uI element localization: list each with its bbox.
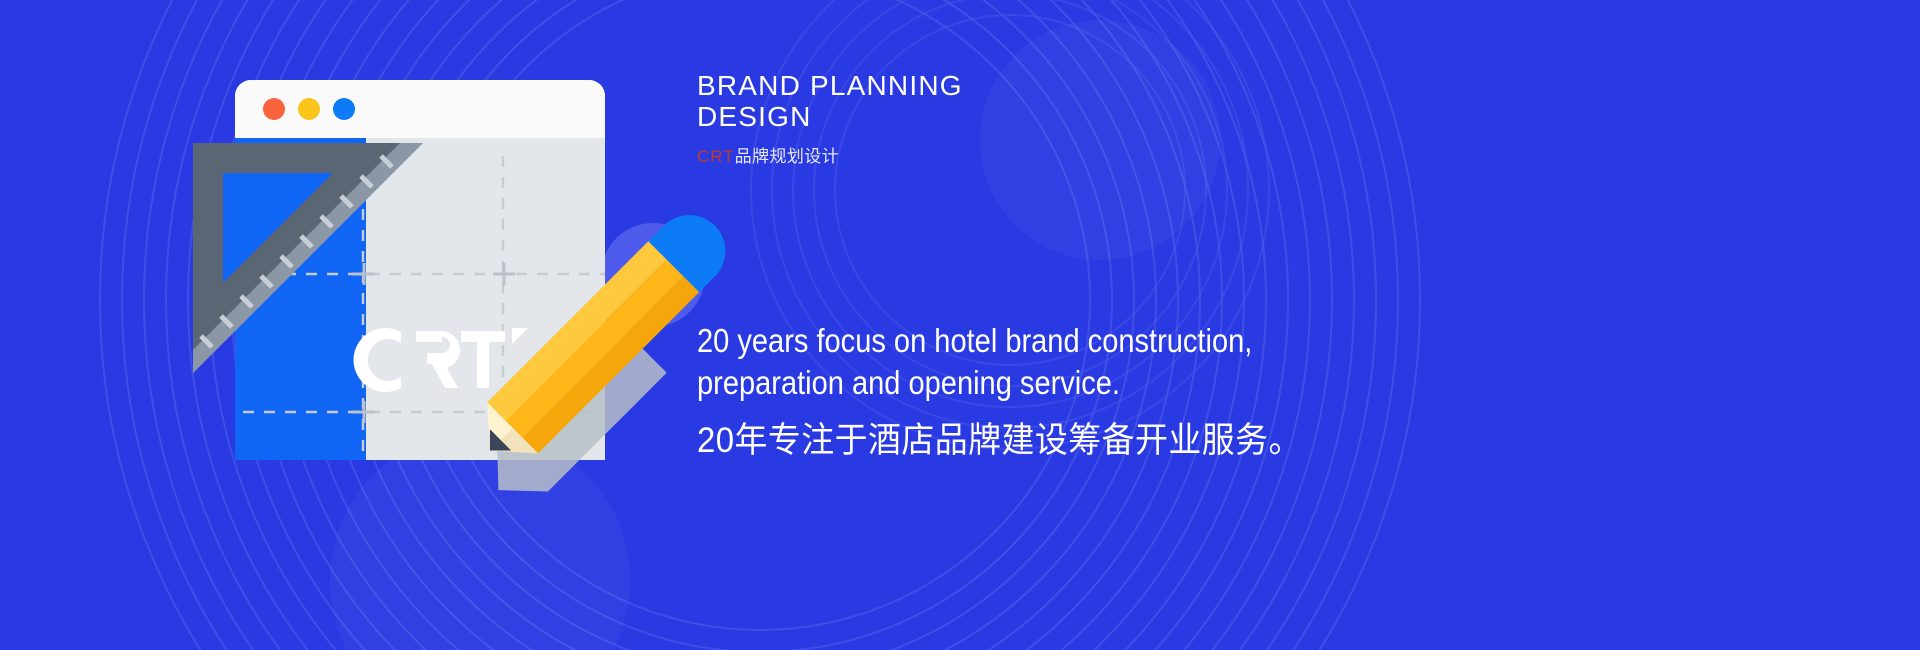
tagline-chinese: 20年专注于酒店品牌建设筹备开业服务。 [697,418,1637,464]
tagline-english: 20 years focus on hotel brand constructi… [697,320,1577,404]
maximize-dot [333,98,355,120]
brand-design-illustration [185,60,705,480]
window-titlebar [235,80,605,138]
banner-text-column: BRAND PLANNING DESIGN CRT品牌规划设计 20 years… [697,0,1847,650]
headline-subtitle-text: 品牌规划设计 [735,147,839,166]
tagline-block: 20 years focus on hotel brand constructi… [697,320,1697,464]
close-dot [263,98,285,120]
brand-accent-text: CRT [697,147,735,166]
minimize-dot [298,98,320,120]
headline-block: BRAND PLANNING DESIGN CRT品牌规划设计 [697,70,963,167]
page-title: BRAND PLANNING DESIGN [697,70,963,133]
headline-subtitle: CRT品牌规划设计 [697,142,963,167]
brand-banner: BRAND PLANNING DESIGN CRT品牌规划设计 20 years… [0,0,1920,650]
